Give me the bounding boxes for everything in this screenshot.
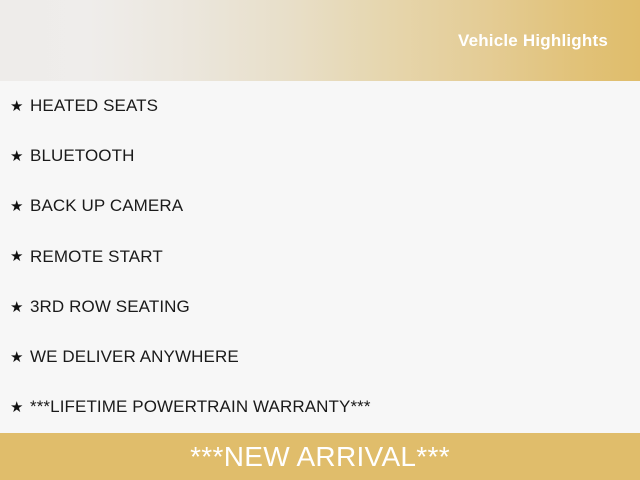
list-item: ★ HEATED SEATS (0, 81, 640, 131)
list-item: ★ 3RD ROW SEATING (0, 282, 640, 332)
star-icon: ★ (10, 199, 30, 214)
new-arrival-banner-text: ***NEW ARRIVAL*** (190, 443, 450, 471)
star-icon: ★ (10, 350, 30, 365)
list-item: ★ BLUETOOTH (0, 131, 640, 181)
highlight-label: 3RD ROW SEATING (30, 298, 190, 317)
star-icon: ★ (10, 149, 30, 164)
star-icon: ★ (10, 400, 30, 415)
star-icon: ★ (10, 300, 30, 315)
highlight-label: ***LIFETIME POWERTRAIN WARRANTY*** (30, 398, 371, 417)
vehicle-highlights-card: Vehicle Highlights ★ HEATED SEATS ★ BLUE… (0, 0, 640, 480)
highlight-label: BACK UP CAMERA (30, 197, 183, 216)
list-item: ★ WE DELIVER ANYWHERE (0, 333, 640, 383)
list-item: ★ REMOTE START (0, 232, 640, 282)
header-band: Vehicle Highlights (0, 0, 640, 81)
highlight-label: HEATED SEATS (30, 97, 158, 116)
list-item: ★ ***LIFETIME POWERTRAIN WARRANTY*** (0, 383, 640, 433)
list-item: ★ BACK UP CAMERA (0, 182, 640, 232)
star-icon: ★ (10, 249, 30, 264)
highlight-label: WE DELIVER ANYWHERE (30, 348, 239, 367)
highlights-list: ★ HEATED SEATS ★ BLUETOOTH ★ BACK UP CAM… (0, 81, 640, 433)
page-title: Vehicle Highlights (458, 32, 608, 49)
highlight-label: REMOTE START (30, 248, 163, 267)
highlight-label: BLUETOOTH (30, 147, 135, 166)
new-arrival-banner: ***NEW ARRIVAL*** (0, 433, 640, 480)
star-icon: ★ (10, 99, 30, 114)
